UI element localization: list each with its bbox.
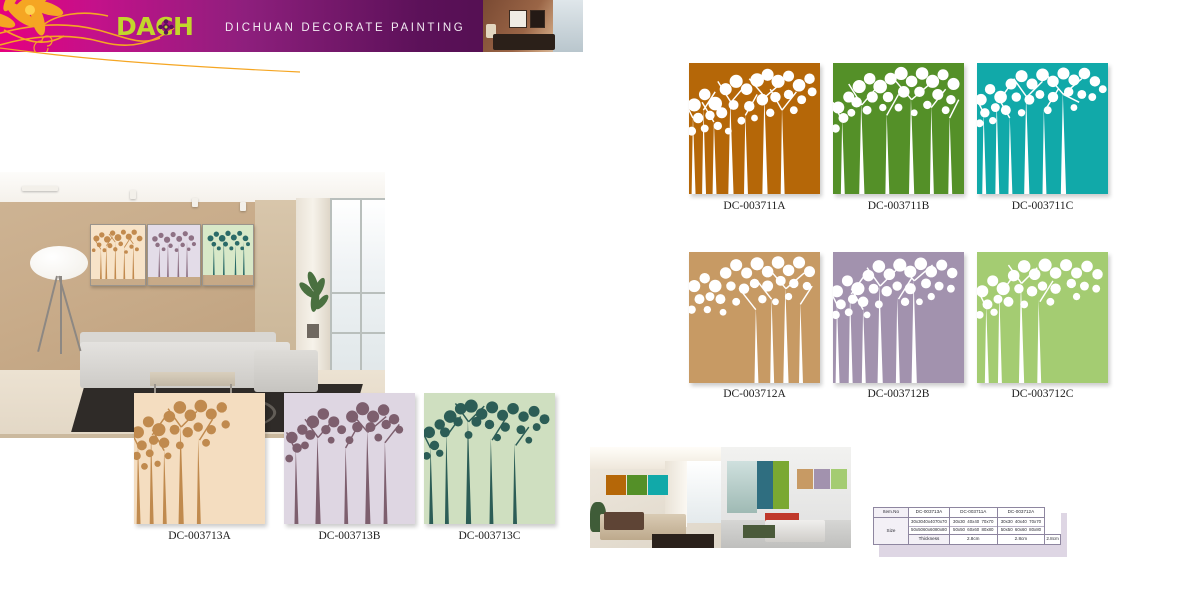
room-photo-left — [590, 447, 721, 548]
header-swoosh-ornament-icon — [0, 46, 300, 74]
row-label-item-no: Item.No — [874, 508, 909, 518]
size-value: 80x80 — [935, 527, 947, 534]
table-row: Size 30x30 40x40 70x70 50x50 60x60 80x80… — [874, 517, 1061, 534]
size-value: 40x40 — [1015, 519, 1027, 526]
size-value: 60x60 — [967, 527, 979, 534]
logo-text: DACH — [116, 12, 193, 41]
header-tagline: DICHUAN DECORATE PAINTING — [225, 22, 465, 34]
thickness-cell: 2.8cm — [949, 535, 997, 545]
product-tile[interactable] — [424, 393, 555, 524]
product-caption: DC-003713A — [134, 530, 265, 542]
product-tile[interactable] — [284, 393, 415, 524]
artwork-dc003712c — [977, 252, 1108, 383]
col-header-3: DC-003712A — [997, 508, 1045, 518]
size-value: 80x80 — [981, 527, 993, 534]
size-cell: 30x30 40x40 70x70 50x50 60x60 80x80 — [997, 517, 1045, 534]
artwork-dc003713a — [134, 393, 265, 524]
plant-icon — [295, 268, 331, 340]
flower-gear-icon — [158, 19, 174, 35]
size-value: 60x60 — [1015, 527, 1027, 534]
size-value: 50x50 — [911, 527, 923, 534]
size-value: 50x50 — [1001, 527, 1013, 534]
artwork-dc003711c — [977, 63, 1108, 194]
size-value: 30x30 — [911, 519, 923, 526]
row-label-size: Size — [874, 517, 909, 544]
wall-picture-3 — [202, 224, 254, 286]
artwork-dc003712a — [689, 252, 820, 383]
spec-table: Item.No DC-003713A DC-003711A DC-003712A… — [873, 507, 1061, 545]
size-value: 40x40 — [967, 519, 979, 526]
product-tile[interactable] — [689, 252, 820, 383]
wall-picture-1 — [90, 224, 146, 286]
room-photo-right — [721, 447, 852, 548]
wall-picture-2 — [147, 224, 201, 286]
size-cell: 30x30 40x40 70x70 50x50 60x60 80x80 — [909, 517, 950, 534]
row-label-thickness: Thickness — [909, 535, 950, 545]
size-value: 40x40 — [923, 519, 935, 526]
product-caption: DC-003711C — [977, 200, 1108, 212]
header-banner: DACH DICHUAN DECORATE PAINTING — [0, 0, 583, 52]
logo[interactable]: DACH — [116, 14, 208, 40]
product-caption: DC-003711B — [833, 200, 964, 212]
spec-table-wrap: Item.No DC-003713A DC-003711A DC-003712A… — [873, 507, 1061, 545]
product-caption: DC-003712C — [977, 388, 1108, 400]
product-tile[interactable] — [977, 252, 1108, 383]
artwork-dc003711b — [833, 63, 964, 194]
size-value: 30x30 — [1001, 519, 1013, 526]
thickness-cell: 2.8cm — [997, 535, 1045, 545]
product-tile[interactable] — [689, 63, 820, 194]
col-header-1: DC-003713A — [909, 508, 950, 518]
artwork-dc003712b — [833, 252, 964, 383]
col-header-2: DC-003711A — [949, 508, 997, 518]
product-caption: DC-003713B — [284, 530, 415, 542]
artwork-dc003713c — [424, 393, 555, 524]
size-value: 70x70 — [981, 519, 993, 526]
size-value: 70x70 — [1029, 519, 1041, 526]
artwork-dc003713b — [284, 393, 415, 524]
size-value: 70x70 — [935, 519, 947, 526]
product-tile[interactable] — [833, 63, 964, 194]
room-duo — [589, 446, 852, 549]
product-tile[interactable] — [977, 63, 1108, 194]
size-value: 80x80 — [1029, 527, 1041, 534]
table-row: Item.No DC-003713A DC-003711A DC-003712A — [874, 508, 1061, 518]
product-caption: DC-003712A — [689, 388, 820, 400]
size-value: 30x30 — [953, 519, 965, 526]
thickness-cell: 2.8cm — [1045, 535, 1061, 545]
product-tile[interactable] — [833, 252, 964, 383]
size-value: 50x50 — [953, 527, 965, 534]
header-photo — [483, 0, 583, 52]
product-caption: DC-003711A — [689, 200, 820, 212]
product-tile[interactable] — [134, 393, 265, 524]
product-caption: DC-003712B — [833, 388, 964, 400]
artwork-dc003711a — [689, 63, 820, 194]
size-value: 60x60 — [923, 527, 935, 534]
size-cell: 30x30 40x40 70x70 50x50 60x60 80x80 — [949, 517, 997, 534]
product-caption: DC-003713C — [424, 530, 555, 542]
